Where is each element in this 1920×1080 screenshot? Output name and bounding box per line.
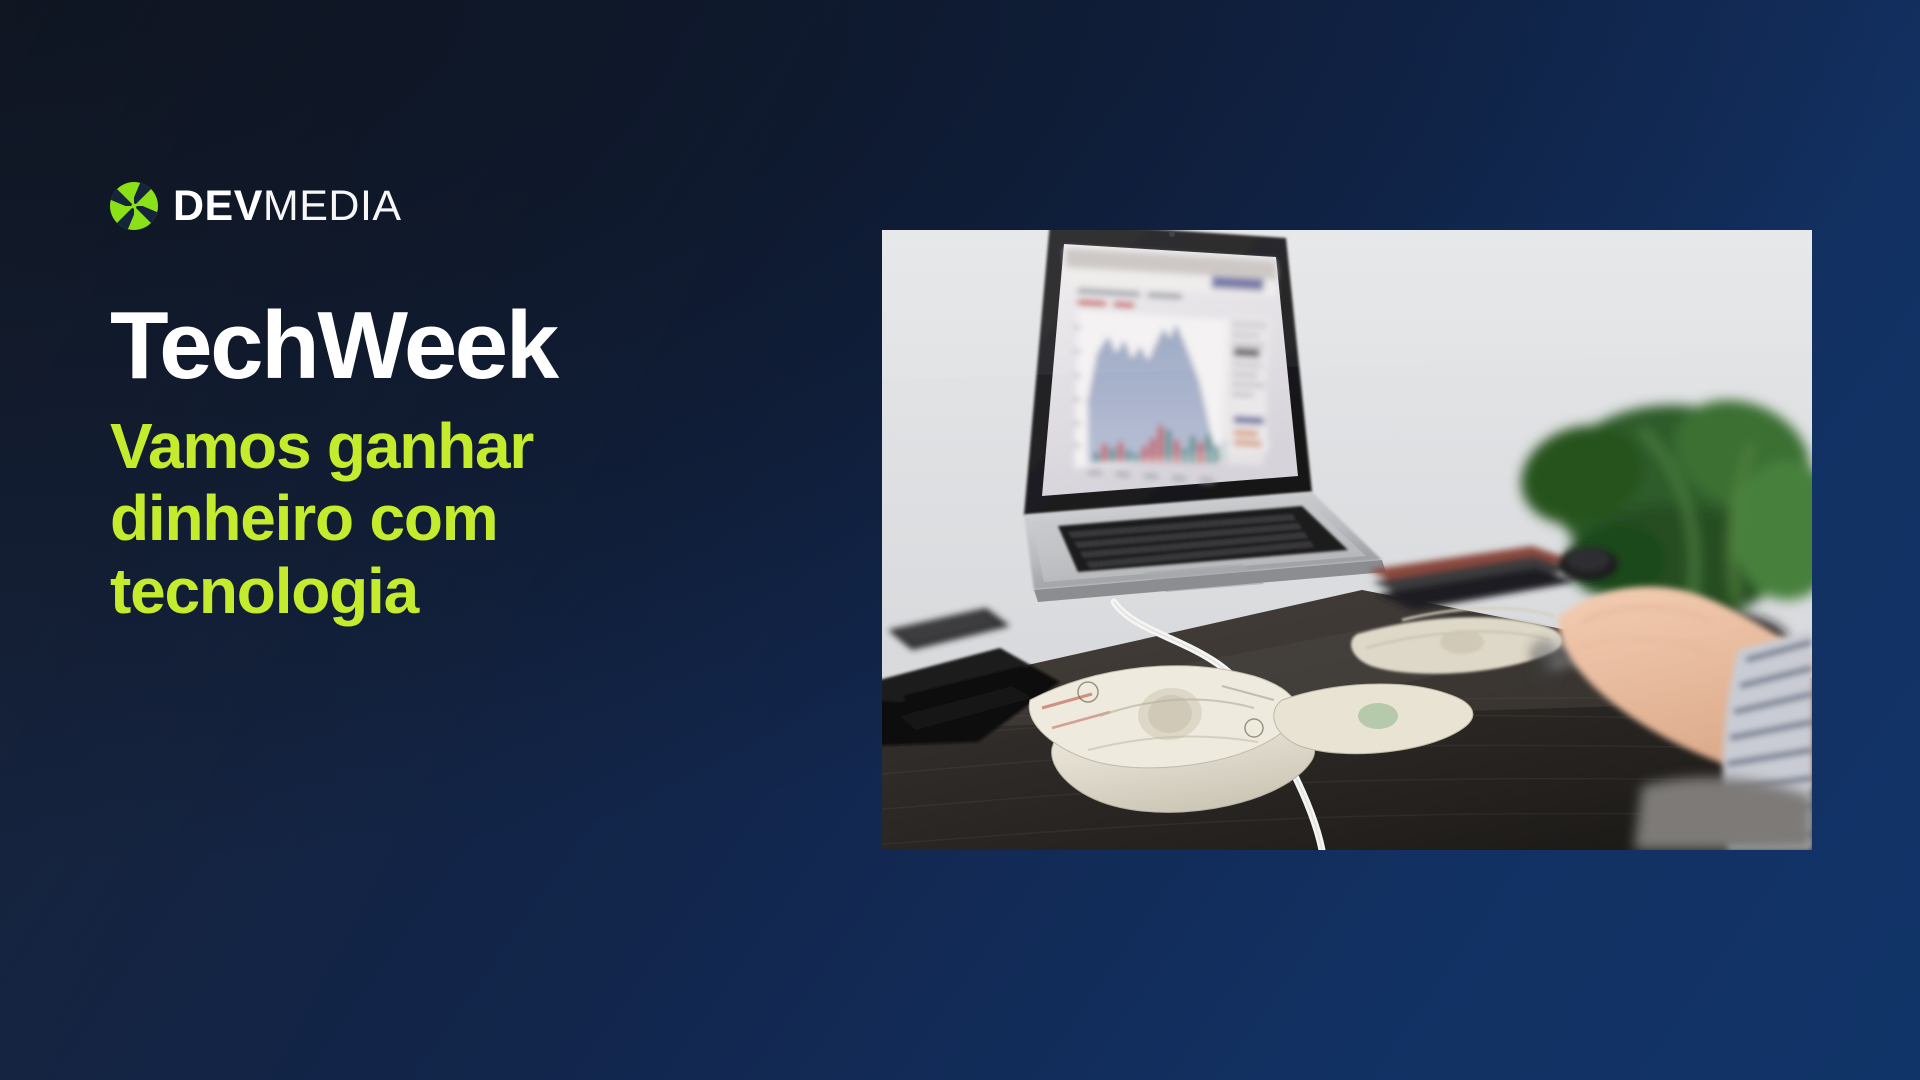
logo-word-media: MEDIA [263, 185, 402, 228]
photo-person-leg [1634, 777, 1812, 850]
subheadline: Vamos ganhar dinheiro com tecnologia [110, 410, 750, 627]
logo-word-dev: DEV [173, 185, 263, 228]
devmedia-logo[interactable]: DEVMEDIA [110, 180, 830, 232]
hero-photo [882, 230, 1812, 850]
promo-banner: DEVMEDIA TechWeek Vamos ganhar dinheiro … [0, 0, 1920, 1080]
subheadline-line-3: tecnologia [110, 555, 750, 627]
page-title: TechWeek [110, 298, 830, 394]
devmedia-wordmark: DEVMEDIA [173, 185, 402, 228]
devmedia-pinwheel-circle-icon [110, 182, 158, 230]
subheadline-line-1: Vamos ganhar [110, 410, 750, 482]
subheadline-line-2: dinheiro com [110, 482, 750, 554]
left-content-column: DEVMEDIA TechWeek Vamos ganhar dinheiro … [110, 180, 830, 627]
